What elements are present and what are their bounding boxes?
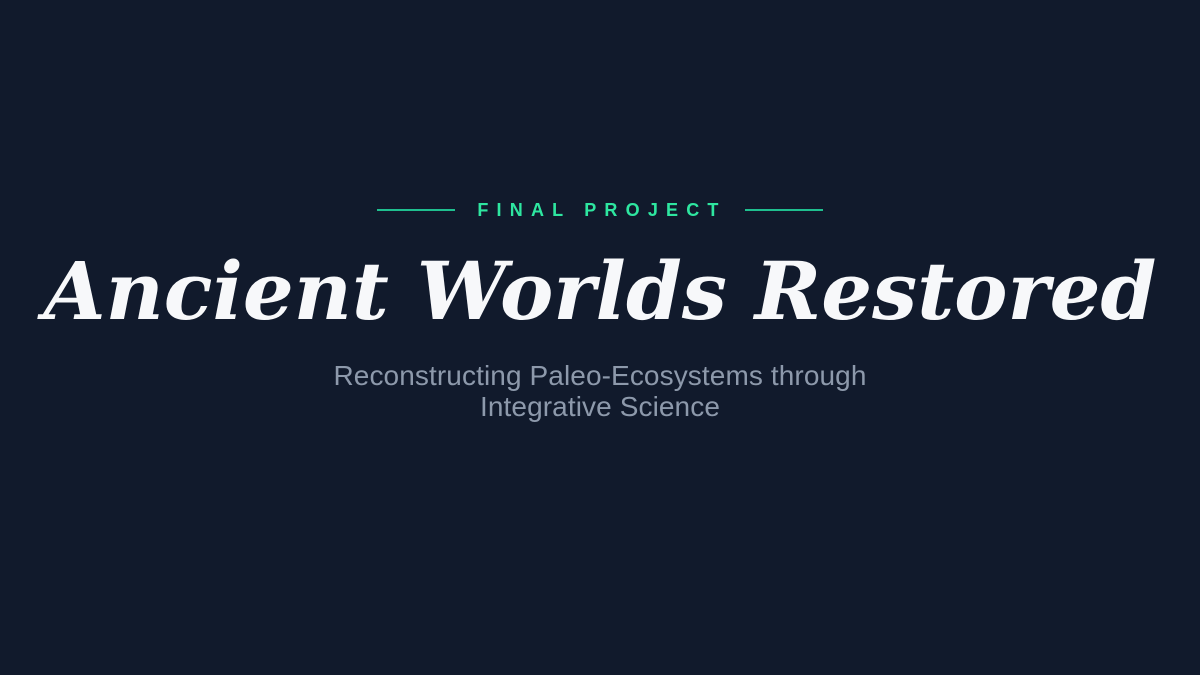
slide-title: Ancient Worlds Restored — [44, 249, 1157, 334]
slide-subtitle: Reconstructing Paleo-Ecosystems through … — [280, 360, 920, 423]
eyebrow-rule-left-decoration — [377, 209, 455, 211]
eyebrow-rule-right-decoration — [745, 209, 823, 211]
title-slide: FINAL PROJECT Ancient Worlds Restored Re… — [0, 0, 1200, 675]
slide-content: FINAL PROJECT Ancient Worlds Restored Re… — [0, 199, 1200, 423]
eyebrow-label: FINAL PROJECT — [473, 201, 726, 219]
eyebrow-group: FINAL PROJECT — [377, 199, 822, 221]
